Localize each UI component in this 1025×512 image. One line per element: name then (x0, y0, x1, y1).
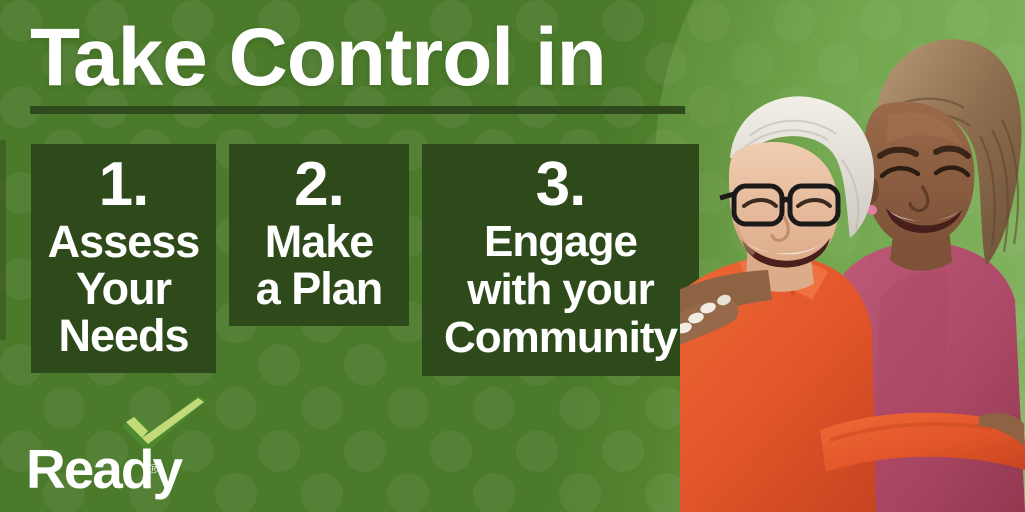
step-1-label-line3: Needs (43, 312, 204, 359)
ready-logo: Ready ® (26, 396, 216, 496)
step-2-label: Make a Plan (241, 218, 397, 312)
step-3-label-line3: Community (434, 314, 687, 362)
step-3-number: 3. (434, 154, 687, 216)
step-2-label-line2: a Plan (241, 265, 397, 312)
step-card-1: 1. Assess Your Needs (31, 144, 216, 373)
title-underline-rule (30, 106, 685, 114)
background-left-edge-accent (0, 140, 6, 340)
step-2-label-line1: Make (241, 218, 397, 265)
step-card-3: 3. Engage with your Community (422, 144, 699, 376)
step-2-number: 2. (241, 154, 397, 216)
ready-campaign-banner: Take Control in 1. Assess Your Needs 2. … (0, 0, 1025, 512)
step-3-label: Engage with your Community (434, 218, 687, 362)
step-card-2: 2. Make a Plan (229, 144, 409, 326)
steps-list: 1. Assess Your Needs 2. Make a Plan 3. E… (31, 144, 699, 376)
step-3-label-line1: Engage (434, 218, 687, 266)
page-title: Take Control in (30, 14, 710, 102)
two-women-embracing-photo (680, 0, 1025, 512)
step-1-number: 1. (43, 154, 204, 216)
step-1-label: Assess Your Needs (43, 218, 204, 359)
step-1-label-line1: Assess (43, 218, 204, 265)
step-3-label-line2: with your (434, 266, 687, 314)
registered-trademark-symbol: ® (149, 462, 159, 475)
step-1-label-line2: Your (43, 265, 204, 312)
